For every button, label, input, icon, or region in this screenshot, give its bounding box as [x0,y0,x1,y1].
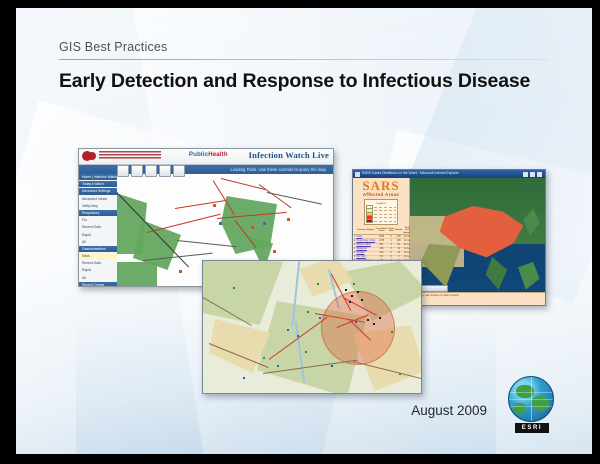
case-marker[interactable] [179,270,182,273]
legend-label [374,221,396,222]
case-marker-secondary[interactable] [263,222,266,225]
cover-header: GIS Best Practices Early Detection and R… [59,40,549,92]
cluster-marker[interactable] [367,319,369,321]
header-divider [59,59,549,60]
map-polygon [117,262,157,286]
column-header-1: Country / Region [356,227,375,235]
sidebar-item-8[interactable]: Rapid [79,232,117,238]
app-title: Infection Watch Live [249,150,329,160]
sidebar-item-14[interactable]: All [79,275,117,281]
legend-swatch [366,219,373,224]
legend-item-4 [366,220,396,223]
sidebar-item-12[interactable]: Recent Data [79,260,117,266]
sidebar-item-13[interactable]: Rapid [79,267,117,273]
case-marker-blue[interactable] [331,365,333,367]
sidebar-item-5[interactable]: Respiratory [79,210,117,216]
globe-parallel [509,392,553,393]
cluster-marker[interactable] [379,317,381,319]
agency-logo-icon [82,151,92,161]
cluster-marker[interactable] [357,291,359,293]
case-marker-blue[interactable] [297,335,299,337]
status-text: Loading Tools. Use these controls to que… [230,167,327,172]
case-marker-green[interactable] [307,311,309,313]
agency-logo-text [99,151,161,160]
sidebar-item-6[interactable]: Flu [79,217,117,223]
road-line [175,200,227,209]
case-marker-green[interactable] [391,331,393,333]
zoom-in-icon[interactable] [131,165,143,177]
case-marker-blue[interactable] [355,321,357,323]
road-line [147,214,221,233]
case-marker-blue[interactable] [319,317,321,319]
case-marker-blue[interactable] [287,329,289,331]
sidebar-item-10[interactable]: Gastrointestinal [79,246,117,252]
road-line [267,192,322,205]
case-marker-secondary[interactable] [219,222,222,225]
sidebar-item-9[interactable]: All [79,239,117,245]
esri-logo: ESRI [508,376,556,428]
case-marker-blue[interactable] [243,377,245,379]
column-header-4: Deaths [395,227,403,235]
column-header-3: Cases New [388,227,395,235]
landmass-southeast-asia [486,257,508,290]
page-title: Early Detection and Response to Infectio… [59,71,549,92]
terrain-polygon [203,261,283,325]
legend: Legend [364,199,398,225]
map-toolbar[interactable] [117,165,185,177]
cluster-marker[interactable] [349,301,351,303]
case-marker-green[interactable] [305,351,307,353]
browser-window-title: SARS Cases Distribution in the World - M… [362,171,459,175]
map-canvas-topo[interactable] [203,261,421,393]
globe-parallel [509,399,553,400]
pan-icon[interactable] [117,165,129,177]
print-icon[interactable] [173,165,185,177]
case-marker-green[interactable] [353,283,355,285]
table-header-row: Country / RegionCumulative CasesCases Ne… [353,227,412,235]
sidebar-item-7[interactable]: Recent Data [79,224,117,230]
app-header-bar: PublicHealth Infection Watch Live [79,149,333,165]
publication-date: August 2009 [411,403,487,418]
sidebar-menu[interactable]: Home | Infection WatchToday's WatchAdvan… [79,174,118,286]
sars-heading: SARS [353,179,409,192]
case-marker[interactable] [251,226,254,229]
legend-items [366,206,396,223]
globe-icon [508,376,554,422]
sidebar-item-4[interactable]: Utility Map [79,203,117,209]
legend-label [374,214,396,215]
case-marker[interactable] [287,218,290,221]
brand-left: Public [189,152,208,158]
sidebar-item-3[interactable]: Advanced Views [79,196,117,202]
case-marker-blue[interactable] [277,365,279,367]
sidebar-item-1[interactable]: Today's Watch [79,181,117,187]
globe-land [513,403,526,414]
browser-icon [355,172,360,177]
identify-icon[interactable] [159,165,171,177]
globe-parallel [509,406,553,407]
case-marker-green[interactable] [317,283,319,285]
legend-label [374,210,396,211]
cluster-marker[interactable] [351,295,353,297]
brand-label: PublicHealth [189,152,228,158]
case-marker-green[interactable] [399,373,401,375]
legend-label [374,207,396,208]
sars-map-canvas[interactable]: Cases Distribution in the World [410,178,545,305]
case-marker-green[interactable] [233,287,235,289]
cluster-marker[interactable] [361,299,363,301]
sidebar-item-11[interactable]: Virus [79,253,117,259]
zoom-out-icon[interactable] [145,165,157,177]
case-marker-green[interactable] [263,357,265,359]
screenshot-topographic-cluster-map [202,260,422,394]
cluster-marker[interactable] [373,323,375,325]
sidebar-item-2[interactable]: Advanced Settings [79,188,117,194]
sidebar-item-15[interactable]: Recent Trends [79,282,117,287]
series-kicker: GIS Best Practices [59,40,549,54]
legend-label [374,217,396,218]
case-marker[interactable] [273,250,276,253]
window-controls[interactable] [523,172,543,177]
cluster-marker[interactable] [345,289,347,291]
terrain-polygon [299,261,353,297]
road-line [177,240,237,247]
brand-right: Health [208,152,228,158]
sidebar-item-0[interactable]: Home | Infection Watch [79,174,117,180]
case-marker[interactable] [213,204,216,207]
esri-wordmark: ESRI [515,423,549,433]
browser-title-bar: SARS Cases Distribution in the World - M… [353,170,545,178]
landmass-philippines [518,262,540,290]
column-header-2: Cumulative Cases [375,227,387,235]
cover-page: GIS Best Practices Early Detection and R… [16,8,592,454]
